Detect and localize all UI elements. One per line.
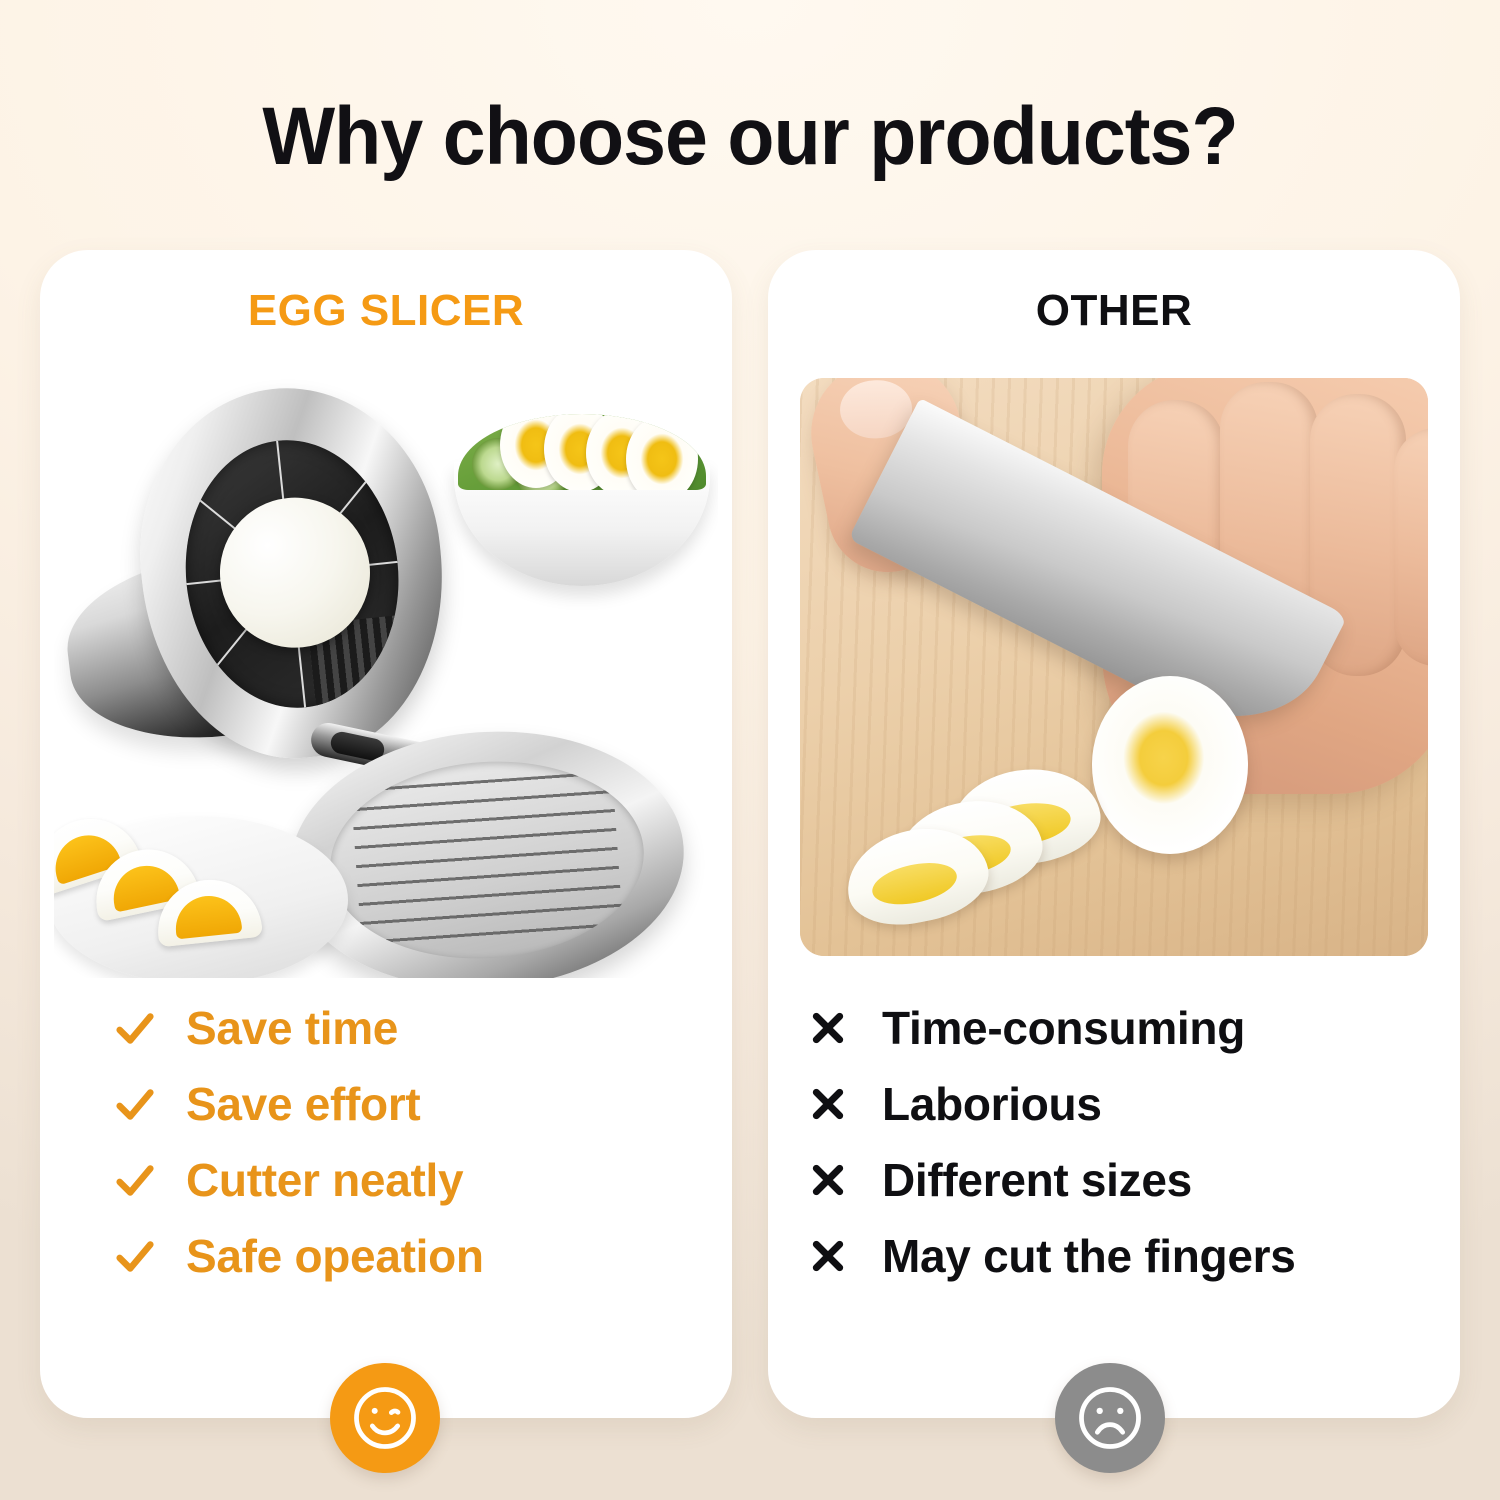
card-other: OTHER — [768, 250, 1460, 1418]
check-icon — [112, 1233, 186, 1279]
happy-face-icon — [330, 1363, 440, 1473]
pros-list: Save time Save effort Cutter neatly — [40, 990, 732, 1294]
sad-face-icon — [1055, 1363, 1165, 1473]
card-title-egg-slicer: EGG SLICER — [40, 286, 732, 336]
slicer-lid-blades — [173, 430, 412, 719]
card-egg-slicer: EGG SLICER — [40, 250, 732, 1418]
list-item-label: Laborious — [882, 1077, 1102, 1131]
cross-icon — [808, 1008, 882, 1048]
salad-bowl — [446, 370, 718, 590]
list-item-label: Safe opeation — [186, 1229, 484, 1283]
cross-icon — [808, 1236, 882, 1276]
finger — [1394, 428, 1428, 666]
cross-icon — [808, 1160, 882, 1200]
slicer-tray-inner — [324, 751, 651, 968]
list-item: Cutter neatly — [112, 1142, 732, 1218]
egg-being-cut — [1092, 676, 1248, 854]
list-item-label: Different sizes — [882, 1153, 1192, 1207]
list-item: Laborious — [808, 1066, 1460, 1142]
list-item-label: Cutter neatly — [186, 1153, 463, 1207]
check-icon — [112, 1157, 186, 1203]
list-item: Different sizes — [808, 1142, 1460, 1218]
list-item: Time-consuming — [808, 990, 1460, 1066]
hand-cutting-egg-photo — [800, 378, 1428, 956]
check-icon — [112, 1081, 186, 1127]
cons-list: Time-consuming Laborious Different sizes — [768, 990, 1460, 1294]
list-item-label: Save time — [186, 1001, 398, 1055]
card-title-other: OTHER — [768, 286, 1460, 336]
list-item-label: May cut the fingers — [882, 1229, 1296, 1283]
egg-slice — [626, 416, 698, 490]
comparison-infographic: Why choose our products? EGG SLICER — [0, 0, 1500, 1500]
egg-slicer-product-photo — [54, 360, 718, 978]
list-item: Save time — [112, 990, 732, 1066]
list-item-label: Time-consuming — [882, 1001, 1245, 1055]
list-item: Safe opeation — [112, 1218, 732, 1294]
egg-wedge-plate — [54, 776, 348, 978]
check-icon — [112, 1005, 186, 1051]
salad-greens — [458, 414, 706, 490]
tray-wire-grid — [351, 771, 624, 949]
thumbnail — [839, 379, 913, 439]
comparison-cards: EGG SLICER — [0, 0, 1500, 1500]
list-item: Save effort — [112, 1066, 732, 1142]
list-item-label: Save effort — [186, 1077, 420, 1131]
list-item: May cut the fingers — [808, 1218, 1460, 1294]
cross-icon — [808, 1084, 882, 1124]
